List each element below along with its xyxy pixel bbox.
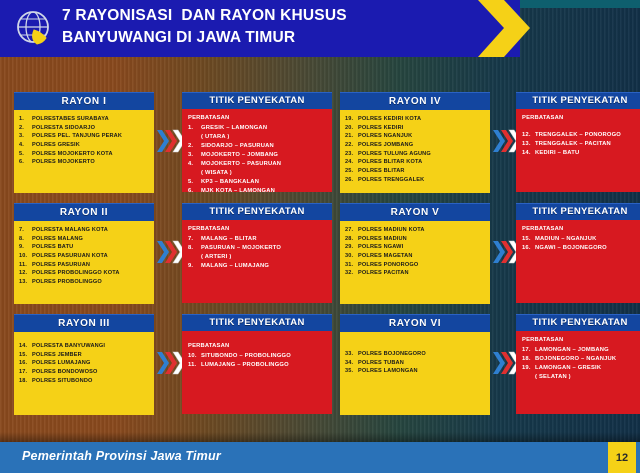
item-continuation: ( UTARA ) [188, 133, 328, 142]
subtitle-perbatasan: PERBATASAN [188, 114, 328, 123]
list-item: 28.POLRES MADIUN [345, 235, 486, 244]
list-item: 1.POLRESTABES SURABAYA [19, 115, 150, 124]
item-text: POLRES MADIUN KOTA [358, 226, 486, 235]
item-text: POLRES BATU [32, 243, 150, 252]
item-text: POLRES MAGETAN [358, 252, 486, 261]
item-text: POLRES PASURUAN KOTA [32, 252, 150, 261]
item-number: 4. [188, 160, 201, 169]
item-number: 35. [345, 367, 358, 376]
item-number: 31. [345, 261, 358, 270]
panel-titik-penyekatan-5[interactable]: TITIK PENYEKATAN PERBATASAN 15.MADIUN – … [516, 203, 640, 303]
list-item: 14.POLRESTA BANYUWANGI [19, 342, 150, 351]
item-number: 16. [522, 244, 535, 253]
item-text: POLRES PONOROGO [358, 261, 486, 270]
item-number: 9. [188, 262, 201, 271]
list-item: 6.POLRES MOJOKERTO [19, 158, 150, 167]
item-number: 7. [19, 226, 32, 235]
item-number: 22. [345, 141, 358, 150]
panel-title-titik-3: TITIK PENYEKATAN [182, 314, 332, 331]
list-item: 2.POLRESTA SIDOARJO [19, 124, 150, 133]
item-text: LAMONGAN – JOMBANG [535, 346, 640, 355]
item-number: 13. [522, 140, 535, 149]
item-text: POLRES PROBOLINGGO [32, 278, 150, 287]
panel-title-rayon-1: RAYON I [14, 92, 154, 110]
item-number: 29. [345, 243, 358, 252]
list-item: 26.POLRES TRENGGALEK [345, 176, 486, 185]
list-item: 19.LAMONGAN – GRESIK [522, 364, 640, 373]
item-number: 33. [345, 350, 358, 359]
item-number: 1. [19, 115, 32, 124]
list-item: 23.POLRES TULUNG AGUNG [345, 150, 486, 159]
item-number: 10. [188, 352, 201, 361]
item-number: 15. [19, 351, 32, 360]
item-text: POLRES MOJOKERTO [32, 158, 150, 167]
item-text: LUMAJANG – PROBOLINGGO [201, 361, 328, 370]
list-item: 16.NGAWI – BOJONEGORO [522, 244, 640, 253]
panel-titik-penyekatan-4[interactable]: TITIK PENYEKATAN PERBATASAN 12.TRENGGALE… [516, 92, 640, 192]
panel-rayon-6[interactable]: RAYON VI 33.POLRES BOJONEGORO 34.POLRES … [340, 314, 490, 415]
list-item: 19.POLRES KEDIRI KOTA [345, 115, 486, 124]
panel-title-titik-4: TITIK PENYEKATAN [516, 92, 640, 109]
item-continuation: ( ARTERI ) [188, 253, 328, 262]
item-text: MJK KOTA – LAMONGAN [201, 187, 328, 196]
item-text: POLRES MOJOKERTO KOTA [32, 150, 150, 159]
panel-rayon-3[interactable]: RAYON III 14.POLRESTA BANYUWANGI 15.POLR… [14, 314, 154, 415]
panel-body-titik-1: PERBATASAN 1.GRESIK – LAMONGAN ( UTARA )… [182, 109, 332, 192]
slide-root: 7 RAYONISASI DAN RAYON KHUSUS BANYUWANGI… [0, 0, 640, 473]
item-number: 25. [345, 167, 358, 176]
panel-titik-penyekatan-1[interactable]: TITIK PENYEKATAN PERBATASAN 1.GRESIK – L… [182, 92, 332, 192]
panel-title-rayon-2: RAYON II [14, 203, 154, 221]
panel-body-rayon-4: 19.POLRES KEDIRI KOTA 20.POLRES KEDIRI 2… [340, 110, 490, 193]
panel-body-rayon-1: 1.POLRESTABES SURABAYA 2.POLRESTA SIDOAR… [14, 110, 154, 193]
item-number: 14. [19, 342, 32, 351]
item-continuation: ( SELATAN ) [522, 373, 640, 382]
item-text: MOJOKERTO – JOMBANG [201, 151, 328, 160]
item-number: 21. [345, 132, 358, 141]
item-text: TRENGGALEK – PACITAN [535, 140, 640, 149]
item-number: 6. [188, 187, 201, 196]
item-number: 26. [345, 176, 358, 185]
panel-body-titik-3: PERBATASAN 10.SITUBONDO – PROBOLINGGO 11… [182, 331, 332, 414]
list-item: 8.POLRES MALANG [19, 235, 150, 244]
slide-footer: Pemerintah Provinsi Jawa Timur 12 [0, 442, 640, 473]
item-text: POLRESTABES SURABAYA [32, 115, 150, 124]
list-item: 30.POLRES MAGETAN [345, 252, 486, 261]
item-number: 20. [345, 124, 358, 133]
item-text: POLRES PEL. TANJUNG PERAK [32, 132, 150, 141]
list-item: 9.MALANG – LUMAJANG [188, 262, 328, 271]
item-text: POLRES PROBOLINGGO KOTA [32, 269, 150, 278]
list-item: 16.POLRES LUMAJANG [19, 359, 150, 368]
list-item: 2.SIDOARJO – PASURUAN [188, 142, 328, 151]
panel-titik-penyekatan-2[interactable]: TITIK PENYEKATAN PERBATASAN 7.MALANG – B… [182, 203, 332, 303]
item-text: LAMONGAN – GRESIK [535, 364, 640, 373]
item-text: POLRES BOJONEGORO [358, 350, 486, 359]
list-item: 13.TRENGGALEK – PACITAN [522, 140, 640, 149]
item-number: 13. [19, 278, 32, 287]
list-item: 15.MADIUN – NGANJUK [522, 235, 640, 244]
item-number: 16. [19, 359, 32, 368]
panel-title-titik-2: TITIK PENYEKATAN [182, 203, 332, 220]
item-number: 11. [188, 361, 201, 370]
list-item: 35.POLRES LAMONGAN [345, 367, 486, 376]
item-number: 2. [188, 142, 201, 151]
item-number: 30. [345, 252, 358, 261]
item-number: 34. [345, 359, 358, 368]
list-item: 8.PASURUAN – MOJOKERTO [188, 244, 328, 253]
item-text: POLRES MALANG [32, 235, 150, 244]
panel-rayon-5[interactable]: RAYON V 27.POLRES MADIUN KOTA 28.POLRES … [340, 203, 490, 304]
list-item: 18.BOJONEGORO – NGANJUK [522, 355, 640, 364]
panel-body-rayon-3: 14.POLRESTA BANYUWANGI 15.POLRES JEMBER … [14, 332, 154, 415]
item-number: 18. [522, 355, 535, 364]
item-number: 28. [345, 235, 358, 244]
list-item: 6.MJK KOTA – LAMONGAN [188, 187, 328, 196]
footer-shadow [0, 432, 640, 442]
list-item: 12.TRENGGALEK – PONOROGO [522, 131, 640, 140]
panel-body-titik-5: PERBATASAN 15.MADIUN – NGANJUK 16.NGAWI … [516, 220, 640, 303]
item-number: 19. [345, 115, 358, 124]
item-text: POLRES KEDIRI [358, 124, 486, 133]
list-item: 17.POLRES BONDOWOSO [19, 368, 150, 377]
item-text: POLRES TULUNG AGUNG [358, 150, 486, 159]
list-item: 25.POLRES BLITAR [345, 167, 486, 176]
item-text: POLRES TRENGGALEK [358, 176, 486, 185]
item-text: POLRES PASURUAN [32, 261, 150, 270]
item-number: 14. [522, 149, 535, 158]
list-item: 10.SITUBONDO – PROBOLINGGO [188, 352, 328, 361]
item-text: SITUBONDO – PROBOLINGGO [201, 352, 328, 361]
page-title-line2: BANYUWANGI DI JAWA TIMUR [62, 27, 472, 49]
panel-rayon-4[interactable]: RAYON IV 19.POLRES KEDIRI KOTA 20.POLRES… [340, 92, 490, 193]
item-text: POLRESTA BANYUWANGI [32, 342, 150, 351]
item-text: POLRES SITUBONDO [32, 377, 150, 386]
item-text: KP3 – BANGKALAN [201, 178, 328, 187]
item-text: POLRES BONDOWOSO [32, 368, 150, 377]
item-text: GRESIK – LAMONGAN [201, 124, 328, 133]
item-text: POLRES TUBAN [358, 359, 486, 368]
item-text: POLRES PACITAN [358, 269, 486, 278]
panel-titik-penyekatan-3[interactable]: TITIK PENYEKATAN PERBATASAN 10.SITUBONDO… [182, 314, 332, 414]
panel-body-rayon-6: 33.POLRES BOJONEGORO 34.POLRES TUBAN 35.… [340, 332, 490, 415]
item-text: SIDOARJO – PASURUAN [201, 142, 328, 151]
rayon-band-1: RAYON I 1.POLRESTABES SURABAYA 2.POLREST… [14, 92, 630, 196]
list-item: 29.POLRES NGAWI [345, 243, 486, 252]
item-number: 17. [19, 368, 32, 377]
item-text: POLRESTA MALANG KOTA [32, 226, 150, 235]
item-text: POLRES NGANJUK [358, 132, 486, 141]
item-number: 19. [522, 364, 535, 373]
item-number: 9. [19, 243, 32, 252]
item-number: 3. [188, 151, 201, 160]
list-item: 24.POLRES BLITAR KOTA [345, 158, 486, 167]
item-number: 2. [19, 124, 32, 133]
panel-title-rayon-6: RAYON VI [340, 314, 490, 332]
list-item: 11.POLRES PASURUAN [19, 261, 150, 270]
list-item: 32.POLRES PACITAN [345, 269, 486, 278]
panel-body-titik-4: PERBATASAN 12.TRENGGALEK – PONOROGO 13.T… [516, 109, 640, 192]
item-number: 5. [188, 178, 201, 187]
list-item: 3.MOJOKERTO – JOMBANG [188, 151, 328, 160]
item-number: 7. [188, 235, 201, 244]
item-number: 24. [345, 158, 358, 167]
panel-rayon-2[interactable]: RAYON II 7.POLRESTA MALANG KOTA 8.POLRES… [14, 203, 154, 304]
list-item: 7.POLRESTA MALANG KOTA [19, 226, 150, 235]
item-text: NGAWI – BOJONEGORO [535, 244, 640, 253]
list-item: 11.LUMAJANG – PROBOLINGGO [188, 361, 328, 370]
item-text: MALANG – LUMAJANG [201, 262, 328, 271]
panel-titik-penyekatan-6[interactable]: TITIK PENYEKATAN PERBATASAN 17.LAMONGAN … [516, 314, 640, 414]
item-text: POLRES BLITAR KOTA [358, 158, 486, 167]
item-number: 5. [19, 150, 32, 159]
subtitle-perbatasan: PERBATASAN [522, 336, 640, 345]
subtitle-perbatasan: PERBATASAN [522, 225, 640, 234]
list-item: 7.MALANG – BLITAR [188, 235, 328, 244]
list-item: 4.MOJOKERTO – PASURUAN [188, 160, 328, 169]
list-item: 13.POLRES PROBOLINGGO [19, 278, 150, 287]
item-number: 12. [522, 131, 535, 140]
list-item: 31.POLRES PONOROGO [345, 261, 486, 270]
panel-rayon-1[interactable]: RAYON I 1.POLRESTABES SURABAYA 2.POLREST… [14, 92, 154, 193]
page-title: 7 RAYONISASI DAN RAYON KHUSUS BANYUWANGI… [62, 5, 472, 50]
subtitle-perbatasan: PERBATASAN [188, 342, 328, 351]
panel-title-rayon-3: RAYON III [14, 314, 154, 332]
list-item: 5.KP3 – BANGKALAN [188, 178, 328, 187]
item-text: POLRES JEMBER [32, 351, 150, 360]
panel-body-titik-2: PERBATASAN 7.MALANG – BLITAR 8.PASURUAN … [182, 220, 332, 303]
subtitle-perbatasan: PERBATASAN [188, 225, 328, 234]
list-item: 9.POLRES BATU [19, 243, 150, 252]
item-number: 4. [19, 141, 32, 150]
list-item: 4.POLRES GRESIK [19, 141, 150, 150]
item-number: 17. [522, 346, 535, 355]
list-item: 27.POLRES MADIUN KOTA [345, 226, 486, 235]
item-number: 11. [19, 261, 32, 270]
item-number: 8. [19, 235, 32, 244]
page-title-line1: 7 RAYONISASI DAN RAYON KHUSUS [62, 5, 472, 27]
item-text: MOJOKERTO – PASURUAN [201, 160, 328, 169]
item-number: 12. [19, 269, 32, 278]
panel-title-titik-6: TITIK PENYEKATAN [516, 314, 640, 331]
panel-title-rayon-5: RAYON V [340, 203, 490, 221]
panel-title-rayon-4: RAYON IV [340, 92, 490, 110]
item-text: POLRES GRESIK [32, 141, 150, 150]
item-text: POLRES KEDIRI KOTA [358, 115, 486, 124]
list-item: 14.KEDIRI – BATU [522, 149, 640, 158]
panel-body-rayon-5: 27.POLRES MADIUN KOTA 28.POLRES MADIUN 2… [340, 221, 490, 304]
list-item: 18.POLRES SITUBONDO [19, 377, 150, 386]
item-text: POLRES MADIUN [358, 235, 486, 244]
list-item: 10.POLRES PASURUAN KOTA [19, 252, 150, 261]
footer-label: Pemerintah Provinsi Jawa Timur [22, 449, 221, 463]
header-arrow-icon [478, 0, 540, 57]
list-item: 12.POLRES PROBOLINGGO KOTA [19, 269, 150, 278]
item-text: KEDIRI – BATU [535, 149, 640, 158]
list-item: 22.POLRES JOMBANG [345, 141, 486, 150]
list-item: 5.POLRES MOJOKERTO KOTA [19, 150, 150, 159]
subtitle-perbatasan: PERBATASAN [522, 114, 640, 123]
item-text: BOJONEGORO – NGANJUK [535, 355, 640, 364]
item-text: TRENGGALEK – PONOROGO [535, 131, 640, 140]
item-number: 1. [188, 124, 201, 133]
panel-title-titik-5: TITIK PENYEKATAN [516, 203, 640, 220]
panel-body-rayon-2: 7.POLRESTA MALANG KOTA 8.POLRES MALANG 9… [14, 221, 154, 304]
list-item: 34.POLRES TUBAN [345, 359, 486, 368]
page-number-badge: 12 [608, 442, 636, 473]
item-number: 8. [188, 244, 201, 253]
item-text: POLRES JOMBANG [358, 141, 486, 150]
item-number: 6. [19, 158, 32, 167]
item-number: 32. [345, 269, 358, 278]
list-item: 21.POLRES NGANJUK [345, 132, 486, 141]
item-number: 23. [345, 150, 358, 159]
panel-body-titik-6: PERBATASAN 17.LAMONGAN – JOMBANG 18.BOJO… [516, 331, 640, 414]
item-text: POLRESTA SIDOARJO [32, 124, 150, 133]
item-number: 10. [19, 252, 32, 261]
list-item: 1.GRESIK – LAMONGAN [188, 124, 328, 133]
item-number: 3. [19, 132, 32, 141]
item-text: POLRES NGAWI [358, 243, 486, 252]
list-item: 20.POLRES KEDIRI [345, 124, 486, 133]
item-text: PASURUAN – MOJOKERTO [201, 244, 328, 253]
panel-title-titik-1: TITIK PENYEKATAN [182, 92, 332, 109]
item-text: POLRES LUMAJANG [32, 359, 150, 368]
list-item: 33.POLRES BOJONEGORO [345, 350, 486, 359]
item-text: POLRES BLITAR [358, 167, 486, 176]
item-text: MALANG – BLITAR [201, 235, 328, 244]
rayon-band-3: RAYON III 14.POLRESTA BANYUWANGI 15.POLR… [14, 314, 630, 418]
rayon-band-2: RAYON II 7.POLRESTA MALANG KOTA 8.POLRES… [14, 203, 630, 307]
item-number: 27. [345, 226, 358, 235]
item-text: POLRES LAMONGAN [358, 367, 486, 376]
list-item: 3.POLRES PEL. TANJUNG PERAK [19, 132, 150, 141]
rayon-grid: RAYON I 1.POLRESTABES SURABAYA 2.POLREST… [14, 92, 630, 422]
list-item: 15.POLRES JEMBER [19, 351, 150, 360]
item-continuation: ( WISATA ) [188, 169, 328, 178]
item-text: MADIUN – NGANJUK [535, 235, 640, 244]
item-number: 18. [19, 377, 32, 386]
list-item: 17.LAMONGAN – JOMBANG [522, 346, 640, 355]
globe-icon [14, 8, 54, 48]
item-number: 15. [522, 235, 535, 244]
